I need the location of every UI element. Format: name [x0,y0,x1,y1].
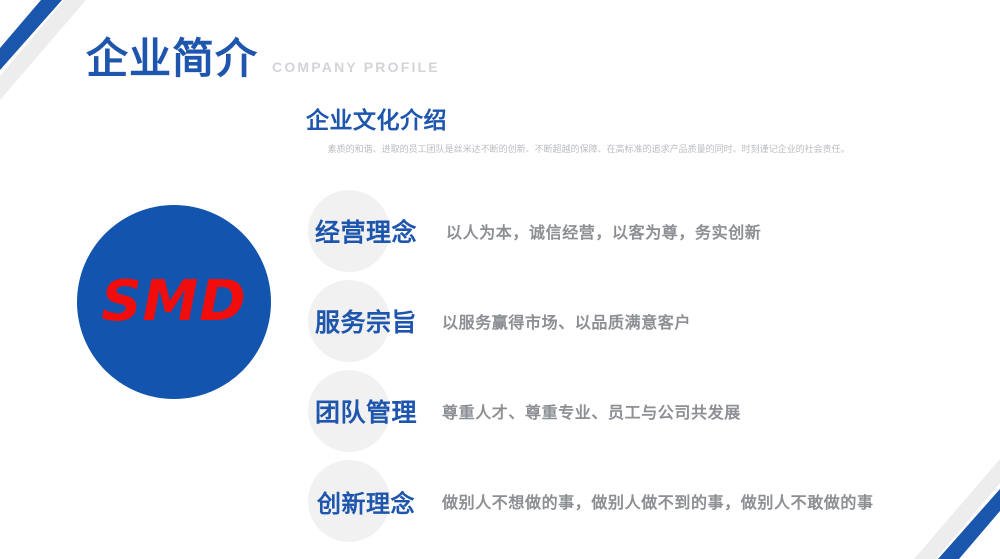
company-logo: SMD [77,205,271,399]
list-item: 团队管理 尊重人才、尊重专业、员工与公司共发展 [300,366,960,456]
value-label: 团队管理 [300,393,432,429]
list-item: 创新理念 做别人不想做的事，做别人做不到的事，做别人不敢做的事 [300,456,960,546]
list-item: 服务宗旨 以服务赢得市场、以品质满意客户 [300,276,960,366]
page-title: 企业简介 [86,38,258,80]
section-intro: 企业文化介绍 素质的和谐、进取的员工团队是丝米达不断的创新、不断超越的保障、在高… [306,108,894,158]
list-item: 经营理念 以人为本，诚信经营，以客为尊，务实创新 [300,186,960,276]
page-subtitle: COMPANY PROFILE [272,59,440,75]
slide-canvas: 企业简介 COMPANY PROFILE 企业文化介绍 素质的和谐、进取的员工团… [0,0,1000,559]
value-text: 做别人不想做的事，做别人做不到的事，做别人不敢做的事 [442,489,874,513]
logo-wordmark: SMD [101,274,247,330]
value-text: 尊重人才、尊重专业、员工与公司共发展 [442,399,741,423]
value-text: 以人为本，诚信经营，以客为尊，务实创新 [446,219,761,243]
value-label: 经营理念 [300,213,432,249]
values-list: 经营理念 以人为本，诚信经营，以客为尊，务实创新 服务宗旨 以服务赢得市场、以品… [300,186,960,546]
value-text: 以服务赢得市场、以品质满意客户 [442,309,691,333]
value-label: 创新理念 [300,484,432,519]
section-title: 企业文化介绍 [306,108,894,134]
value-label: 服务宗旨 [300,303,432,339]
slide-header: 企业简介 COMPANY PROFILE [86,38,440,80]
section-description: 素质的和谐、进取的员工团队是丝米达不断的创新、不断超越的保障、在高标准的追求产品… [306,142,894,158]
